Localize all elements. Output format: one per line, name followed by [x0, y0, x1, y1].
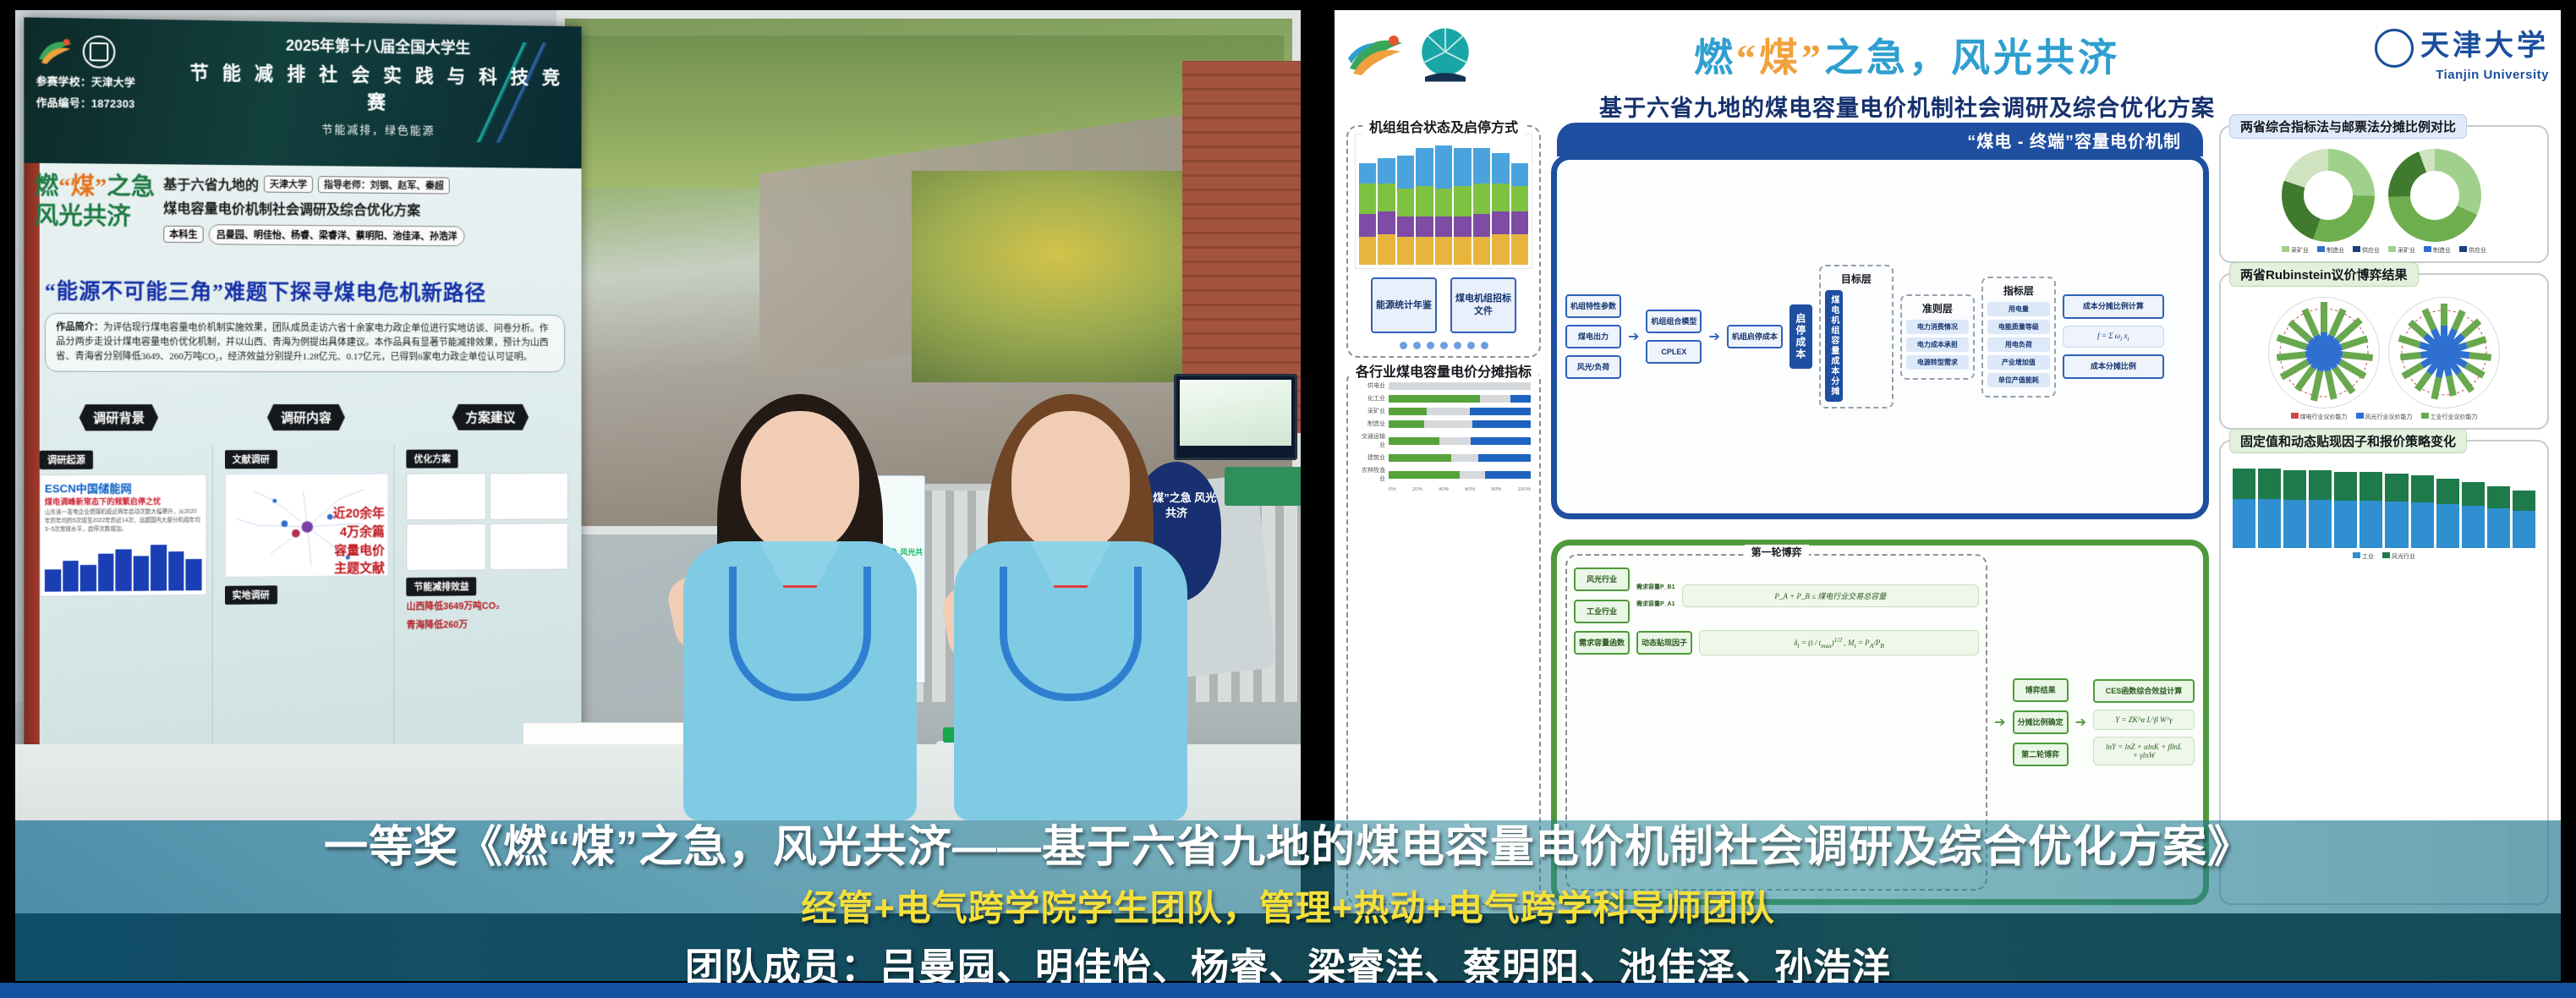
- highlight-years: 近20余年: [333, 505, 385, 524]
- student-left: 燃“煤”之急 风光共济 参赛学生: [683, 411, 917, 820]
- demand-label-b: 需求容量P_A1: [1636, 600, 1675, 608]
- benefit-result-qinghai: 青海降低260万: [407, 617, 568, 632]
- game-panel: 第一轮博弈 风光行业 工业行业 需求容量P_B1: [1551, 540, 2209, 905]
- title-mei: “煤”: [1736, 36, 1824, 80]
- flow-node: 机组启停成本: [1727, 325, 1783, 348]
- poster-title-text: 燃“煤”之急，风光共济: [1488, 27, 2326, 83]
- poster-members-row: 本科生 吕曼园、明佳怡、杨睿、梁睿洋、蔡明阳、池佳泽、孙浩洋: [163, 224, 573, 247]
- legend-industry: 工业: [2353, 552, 2374, 561]
- highlight-topic: 容量电价: [333, 541, 385, 560]
- donut-qinghai: [2388, 149, 2481, 242]
- literature-network-graph: 近20余年 4万余篇 容量电价 主题文献: [224, 474, 388, 578]
- hbar-row: 化工业: [1357, 394, 1531, 403]
- header-left-block: 参赛学校：天津大学 作品编号：1872303: [36, 35, 183, 112]
- legend-coal: 煤电行业议价能力: [2291, 413, 2348, 421]
- discount-legend: 工业 风光行业: [2228, 552, 2540, 561]
- flow-node: 煤电出力: [1565, 325, 1621, 348]
- rose-chart-right: [2388, 297, 2500, 409]
- exhibition-booth-photo: 参赛学校：天津大学 作品编号：1872303 2025年第十八届全国大学生 节 …: [15, 10, 1301, 913]
- hbar-row: 采矿业: [1357, 407, 1531, 415]
- poster-column-b: “煤电 - 终端”容量电价机制 机组特性参数 煤电出力 风光/负荷 ➔: [1551, 125, 2209, 905]
- cost-formula: f = Σ ωi xi: [2063, 326, 2164, 348]
- title-rest: 之急，风光共济: [1824, 36, 2120, 80]
- round1-title: 第一轮博弈: [1745, 545, 1809, 559]
- game-constraint: P_A + P_B ≤ 煤电行业交易总容量: [1682, 584, 1980, 607]
- compare-donut-charts: 采矿业 制造业 供应业 采矿业 制造业: [2228, 149, 2540, 255]
- legend-supply: 供应业: [2459, 246, 2486, 255]
- arrow-right-icon: ➔: [1708, 328, 1719, 345]
- discount-bar-chart: [2228, 463, 2540, 548]
- unit-commitment-box: 机组组合状态及启停方式: [1346, 125, 1541, 358]
- hbar-label: 制造业: [1357, 419, 1385, 428]
- discount-card: 固定值和动态贴现因子和报价策略变化: [2219, 440, 2549, 905]
- mechanism-flow: 机组特性参数 煤电出力 风光/负荷 ➔ 机组组合模型 CPLEX: [1565, 168, 2195, 505]
- tju-seal-icon: [83, 36, 116, 69]
- legend-mining: 采矿业: [2282, 246, 2309, 255]
- poster-subtitle-row1: 基于六省九地的 天津大学 指导老师：刘钢、赵军、秦超: [163, 173, 573, 196]
- hbar-axis: 0% 20% 40% 60% 80% 100%: [1357, 487, 1531, 495]
- screenshot-root: 参赛学校：天津大学 作品编号：1872303 2025年第十八届全国大学生 节 …: [0, 0, 2576, 998]
- game-result-node: 博弈结果: [2013, 678, 2069, 702]
- source-book-yearbook: 能源统计年鉴: [1371, 277, 1437, 333]
- hbar-row: 制造业: [1357, 419, 1531, 428]
- layer-index-title: 指标层: [1987, 283, 2050, 298]
- opt-thumb-4: [490, 523, 568, 570]
- chip-advisors: 指导老师：刘钢、赵军、秦超: [318, 176, 450, 194]
- legend-manufacturing: 制造业: [2424, 246, 2451, 255]
- student-left-head: [741, 411, 859, 553]
- actor-node: 工业行业: [1574, 600, 1630, 623]
- poster-title-right: 基于六省九地的 天津大学 指导老师：刘钢、赵军、秦超 煤电容量电价机制社会调研及…: [163, 173, 573, 247]
- chip-level: 本科生: [163, 226, 203, 243]
- discount-formula: δt = (t / tmax)1/2 , Mt = PA/PB: [1699, 630, 1979, 655]
- layer-index-item: 产业增加值: [1987, 355, 2050, 370]
- mechanism-title: “煤电 - 终端”容量电价机制: [1557, 123, 2203, 156]
- tju-name-cn: 天津大学: [2338, 22, 2549, 68]
- header-logos: [36, 35, 183, 69]
- axis-tick: 20%: [1412, 487, 1422, 495]
- chip-members: 吕曼园、明佳怡、杨睿、梁睿洋、蔡明阳、池佳泽、孙浩洋: [209, 224, 465, 246]
- poster-column-background: 调研起源 ESCN中国储能网 煤电调峰新常态下的频繁启停之忧 山东省一发电企业燃…: [35, 445, 213, 762]
- competition-slogan: 节能减排，绿色能源: [178, 118, 574, 139]
- nengjianpai-logo-icon: [36, 36, 76, 66]
- layer-criteria-item: 电力消费情况: [1906, 320, 1969, 334]
- hbar-label: 采矿业: [1357, 407, 1385, 415]
- hbar-label: 农林牧渔业: [1357, 466, 1385, 483]
- demand-label-a: 需求容量P_B1: [1636, 583, 1675, 591]
- axis-tick: 60%: [1465, 487, 1475, 495]
- hbar-row: 农林牧渔业: [1357, 466, 1531, 483]
- hbar-row: 建筑业: [1357, 453, 1531, 462]
- student-right-lanyard: [1000, 567, 1142, 701]
- unit-commitment-stacked-chart: [1355, 134, 1532, 269]
- header-title-block: 2025年第十八届全国大学生 节 能 减 排 社 会 实 践 与 科 技 竞 赛…: [178, 32, 574, 140]
- flow-node: 机组组合模型: [1646, 310, 1702, 333]
- calc-title-node: 成本分摊比例计算: [2063, 294, 2164, 318]
- student-right-shirt: [954, 541, 1187, 820]
- layer-index-item: 用电负荷: [1987, 337, 2050, 352]
- student-right-head: [1011, 411, 1130, 553]
- poster-columns: 调研起源 ESCN中国储能网 煤电调峰新常态下的频繁启停之忧 山东省一发电企业燃…: [35, 444, 573, 762]
- tju-seal-icon: [2375, 29, 2414, 68]
- news-body: 山东省一发电企业燃煤机组近两年启动次数大幅攀升，从2020年的年均的5次增至20…: [45, 508, 201, 535]
- hbar-label: 建筑业: [1357, 453, 1385, 462]
- layer-index-item: 单位产值能耗: [1987, 373, 2050, 387]
- abstract-label: 作品简介：: [56, 322, 103, 332]
- source-book-tender: 煤电机组招标文件: [1450, 277, 1516, 333]
- hbar-row: 供电业: [1357, 381, 1531, 390]
- school-label: 参赛学校：天津大学: [36, 73, 183, 91]
- game-flow: 第一轮博弈 风光行业 工业行业 需求容量P_B1: [1565, 554, 2195, 891]
- flow-node: 机组特性参数: [1565, 294, 1621, 318]
- block-label-origin: 调研起源: [40, 451, 93, 469]
- poster-subtitle-row2: 煤电容量电价机制社会调研及综合优化方案: [163, 197, 573, 221]
- layer-criteria-item: 电源转型需求: [1906, 355, 1969, 370]
- donut-legend: 采矿业 制造业 供应业: [2282, 246, 2380, 255]
- green-title-line1: 燃“煤”之急: [35, 172, 155, 203]
- unit-commitment-title: 机组组合状态及启停方式: [1362, 116, 1525, 136]
- rubinstein-card: 两省Rubinstein议价博弈结果: [2219, 273, 2549, 430]
- layer-index: 指标层 用电量 电能质量等级 用电负荷 产业增加值 单位产值能耗: [1981, 277, 2056, 398]
- ces-title-node: CES函数综合效益计算: [2093, 679, 2195, 703]
- round1-box: 第一轮博弈 风光行业 工业行业 需求容量P_B1: [1565, 554, 1987, 891]
- rose-chart-left: [2268, 297, 2380, 409]
- section-tag-proposal: 方案建议: [452, 404, 529, 430]
- discount-factor-node: 动态贴现因子: [1636, 631, 1692, 655]
- news-headline: 煤电调峰新常态下的频繁启停之忧: [45, 496, 201, 507]
- axis-tick: 80%: [1491, 487, 1501, 495]
- rubinstein-title: 两省Rubinstein议价博弈结果: [2229, 262, 2419, 287]
- poster-body: 机组组合状态及启停方式: [1346, 125, 2549, 905]
- block-label-benefit: 节能减排效益: [407, 577, 477, 596]
- green-table-card: [1225, 467, 1301, 506]
- title-ran: 燃: [1694, 36, 1736, 80]
- startup-count-bar-chart: [45, 538, 201, 592]
- chip-school: 天津大学: [264, 176, 313, 194]
- demand-function-node: 需求容量函数: [1574, 631, 1630, 655]
- layer-criteria: 准则层 电力消费情况 电力成本承担 电源转型需求: [1900, 294, 1975, 380]
- legend-wind: 风光行业议价能力: [2356, 413, 2413, 421]
- poster-abstract: 作品简介：为评估现行煤电容量电价机制实施效果，团队成员走访六省十余家电力政企单位…: [45, 313, 565, 373]
- hbar-label: 化工业: [1357, 394, 1385, 403]
- hbar-label: 交通运输业: [1357, 432, 1385, 449]
- legend-supply: 供应业: [2353, 246, 2380, 255]
- data-sources: 能源统计年鉴 煤电机组招标文件: [1355, 277, 1532, 333]
- round2-node: 第二轮博弈: [2013, 743, 2069, 766]
- compare-card: 两省综合指标法与邮票法分摊比例对比 采矿业 制造业 供应业: [2219, 125, 2549, 263]
- project-poster: 燃“煤”之急，风光共济 基于六省九地的煤电容量电价机制社会调研及综合优化方案 天…: [1335, 10, 2561, 913]
- poster-column-content: 文献调研: [219, 445, 394, 759]
- opt-thumb-3: [407, 524, 486, 571]
- industry-index-title: 各行业煤电容量电价分摊指标: [1349, 360, 1538, 381]
- tju-name-cn-text: 天津大学: [2420, 30, 2549, 62]
- donut-shanxi: [2282, 149, 2375, 242]
- right-poster-panel: 燃“煤”之急，风光共济 基于六省九地的煤电容量电价机制社会调研及综合优化方案 天…: [1335, 10, 2561, 913]
- poster-title-row: 燃“煤”之急 风光共济 基于六省九地的 天津大学 指导老师：刘钢、赵军、秦超 煤…: [35, 172, 573, 247]
- poster-based-on-text: 基于六省九地的: [163, 173, 259, 194]
- layer-goal-item: 煤电机组容量成本分摊: [1825, 290, 1843, 402]
- rubinstein-rose-charts: [2228, 297, 2540, 409]
- result-node: 成本分摊比例: [2063, 354, 2164, 378]
- layer-index-item: 电能质量等级: [1987, 320, 2050, 334]
- mechanism-panel: “煤电 - 终端”容量电价机制 机组特性参数 煤电出力 风光/负荷 ➔: [1551, 154, 2209, 519]
- rose-svg: [2269, 298, 2379, 408]
- axis-tick: 100%: [1518, 487, 1531, 495]
- poster-section-tags: 调研背景 调研内容 方案建议: [24, 404, 581, 431]
- industry-index-bars: 供电业 化工业 采矿业 制造业 交通运输业 建筑业 农林牧渔业: [1355, 378, 1532, 502]
- poster-header-bar: 燃“煤”之急，风光共济 基于六省九地的煤电容量电价机制社会调研及综合优化方案 天…: [1346, 19, 2549, 120]
- poster-column-a: 机组组合状态及启停方式: [1346, 125, 1541, 905]
- arrow-right-icon: ➔: [1628, 328, 1639, 345]
- poster-header: 参赛学校：天津大学 作品编号：1872303 2025年第十八届全国大学生 节 …: [24, 18, 581, 169]
- compare-title: 两省综合指标法与邮票法分摊比例对比: [2229, 114, 2467, 139]
- arrow-right-icon: ➔: [2075, 714, 2086, 731]
- news-clipping-card: ESCN中国储能网 煤电调峰新常态下的频繁启停之忧 山东省一发电企业燃煤机组近两…: [40, 474, 207, 597]
- abstract-text: 为评估现行煤电容量电价机制实施效果，团队成员走访六省十余家电力政企单位进行实地访…: [56, 322, 548, 362]
- competition-name-line: 节 能 减 排 社 会 实 践 与 科 技 竞 赛: [178, 58, 574, 117]
- nengjianpai-logo-icon: [1346, 33, 1406, 77]
- layer-index-item: 用电量: [1987, 302, 2050, 316]
- entry-number-label: 作品编号：1872303: [36, 94, 183, 112]
- legend-manufacturing: 制造业: [2317, 246, 2344, 255]
- student-right: 燃“煤”之急 风光共济 参赛学生: [954, 411, 1187, 820]
- layer-goal-title: 目标层: [1825, 271, 1888, 286]
- donut-legend: 采矿业 制造业 供应业: [2388, 246, 2486, 255]
- news-brand: ESCN中国储能网: [45, 479, 201, 496]
- section-tag-content: 调研内容: [267, 404, 345, 430]
- legend-industry: 工业行业议价能力: [2421, 413, 2478, 421]
- benefit-result-shanxi: 山西降低3649万吨CO₂: [407, 599, 568, 614]
- block-label-literature: 文献调研: [224, 450, 277, 469]
- optimization-thumbnails: [407, 473, 568, 571]
- opt-thumb-2: [490, 473, 568, 520]
- student-left-lanyard: [729, 567, 871, 701]
- poster-blue-subtitle: “能源不可能三角”难题下探寻煤电危机新路径: [45, 274, 486, 306]
- progress-dots: [1355, 342, 1532, 349]
- poster-column-c: 两省综合指标法与邮票法分摊比例对比 采矿业 制造业 供应业: [2219, 125, 2549, 905]
- opt-thumb-1: [407, 473, 486, 520]
- wind-turbine-logo-icon: [1414, 24, 1477, 86]
- tju-name-en: Tianjin University: [2338, 68, 2549, 82]
- layer-criteria-title: 准则层: [1906, 301, 1969, 315]
- flow-node-solver: CPLEX: [1646, 340, 1702, 364]
- flow-node: 风光/负荷: [1565, 355, 1621, 379]
- section-tag-background: 调研背景: [79, 404, 158, 430]
- poster-column-proposal: 优化方案 节能减排效益 山西降低3649万吨CO₂ 青海降低260万: [402, 444, 573, 756]
- block-label-fieldwork: 实地调研: [224, 585, 277, 605]
- poster-logos: [1346, 19, 1477, 86]
- highlight-literature: 主题文献: [333, 560, 385, 578]
- ces-formula-detail: lnY = lnZ + αlnK + βlnL+ γlnW: [2093, 737, 2195, 765]
- axis-tick: 40%: [1439, 487, 1449, 495]
- layer-criteria-item: 电力成本承担: [1906, 337, 1969, 352]
- startup-cost-vertical-label: 启停成本: [1789, 304, 1812, 369]
- second-laptop: [1174, 374, 1297, 460]
- poster-subtitle-text: 基于六省九地的煤电容量电价机制社会调研及综合优化方案: [1488, 90, 2326, 123]
- ces-formula: Y = ZK^α L^β W^γ: [2093, 710, 2195, 730]
- printed-poster: 参赛学校：天津大学 作品编号：1872303 2025年第十八届全国大学生 节 …: [24, 18, 581, 771]
- hbar-label: 供电业: [1357, 381, 1385, 390]
- legend-mining: 采矿业: [2388, 246, 2415, 255]
- rubinstein-legend: 煤电行业议价能力 风光行业议价能力 工业行业议价能力: [2228, 413, 2540, 421]
- bottom-blue-strip: [0, 983, 2576, 998]
- literature-highlights: 近20余年 4万余篇 容量电价 主题文献: [333, 505, 385, 578]
- legend-wind: 风光行业: [2382, 552, 2415, 561]
- axis-tick: 0%: [1389, 487, 1396, 495]
- rose-svg: [2389, 298, 2499, 408]
- green-title-line2: 风光共济: [35, 201, 155, 232]
- layer-goal: 目标层 煤电机组容量成本分摊: [1819, 265, 1894, 409]
- arrow-right-icon: ➔: [1994, 714, 2005, 731]
- hbar-row: 交通运输业: [1357, 432, 1531, 449]
- tju-branding: 天津大学 Tianjin University: [2338, 19, 2549, 82]
- actor-node: 风光行业: [1574, 568, 1630, 591]
- industry-index-box: 各行业煤电容量电价分摊指标 供电业 化工业 采矿业 制造业 交通运输业 建筑业 …: [1346, 370, 1541, 905]
- poster-green-title: 燃“煤”之急 风光共济: [35, 172, 155, 244]
- highlight-papers: 4万余篇: [333, 523, 385, 541]
- analysis-node: 分摊比例确定: [2013, 710, 2069, 734]
- discount-title: 固定值和动态贴现因子和报价策略变化: [2229, 429, 2467, 453]
- student-left-shirt: [683, 541, 917, 820]
- left-photo-panel: 参赛学校：天津大学 作品编号：1872303 2025年第十八届全国大学生 节 …: [15, 10, 1301, 913]
- poster-main-title: 燃“煤”之急，风光共济 基于六省九地的煤电容量电价机制社会调研及综合优化方案: [1488, 19, 2326, 123]
- competition-year-line: 2025年第十八届全国大学生: [178, 32, 574, 60]
- block-label-optimization: 优化方案: [407, 450, 458, 469]
